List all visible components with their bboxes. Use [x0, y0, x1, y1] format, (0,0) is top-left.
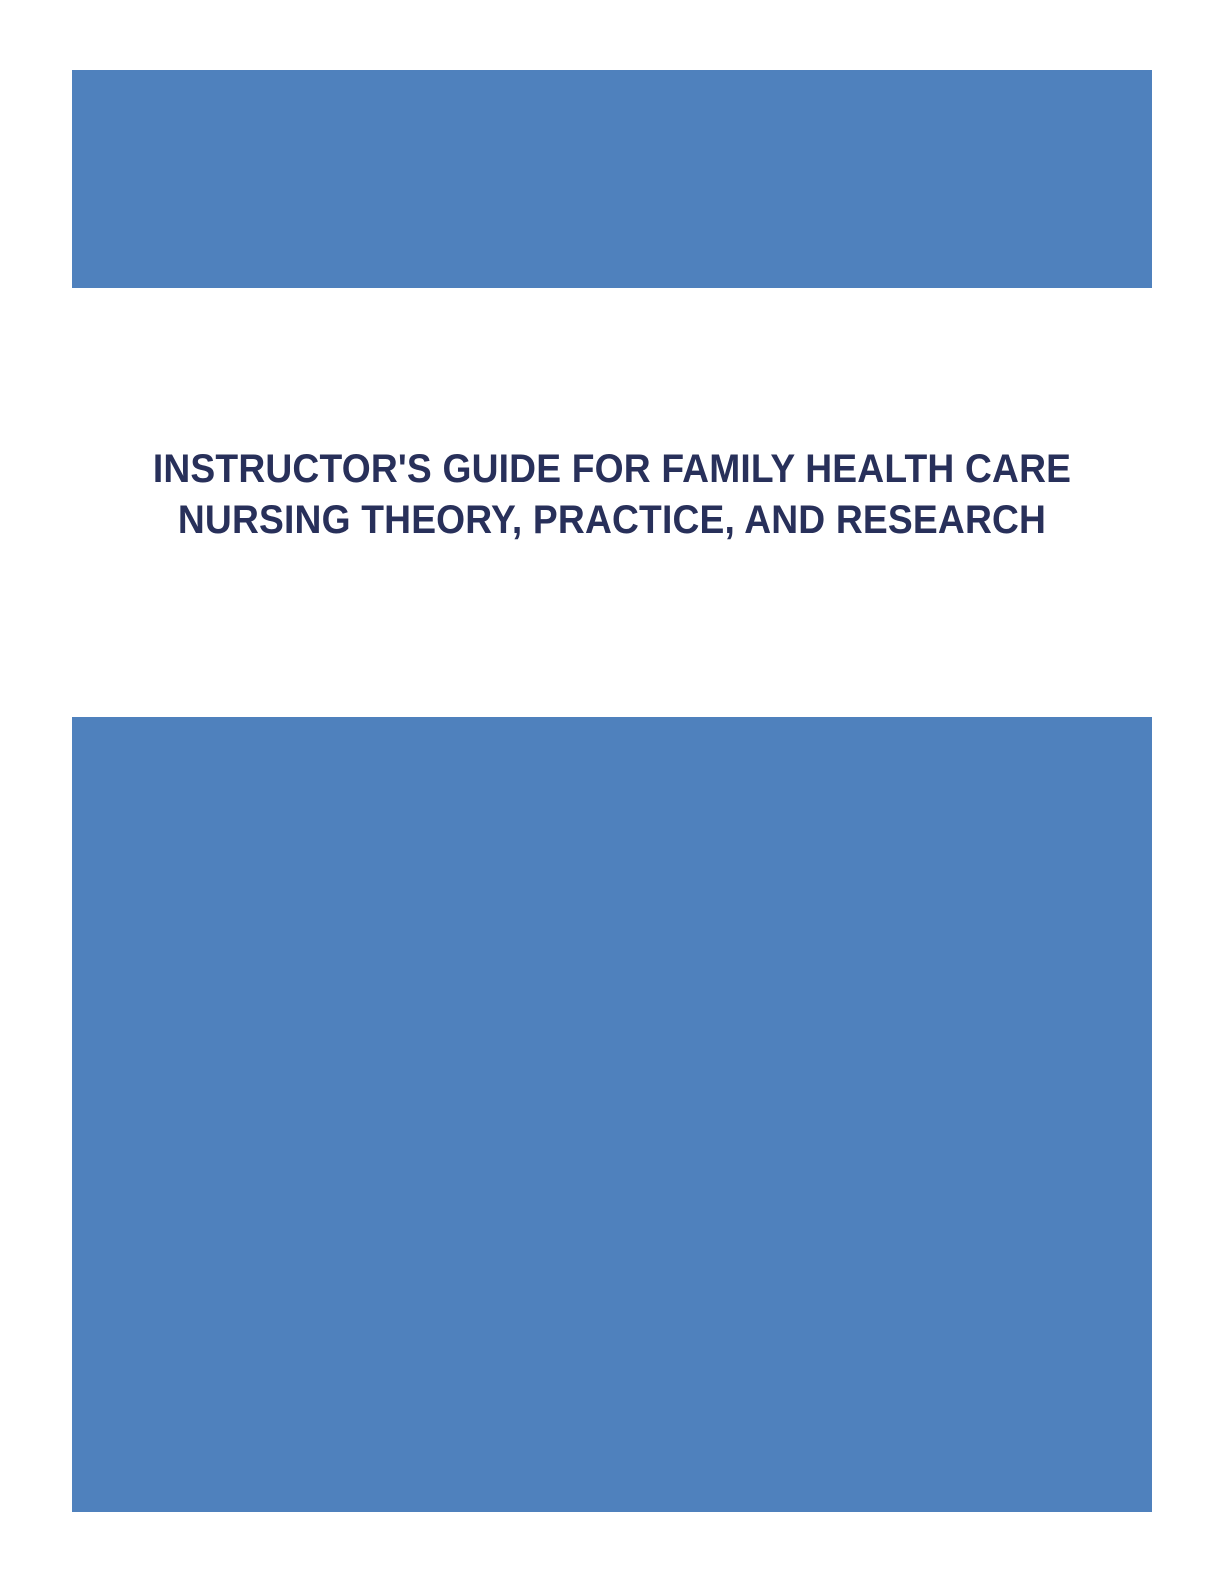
- top-accent-band: [72, 70, 1152, 288]
- cover-page: INSTRUCTOR'S GUIDE FOR FAMILY HEALTH CAR…: [0, 0, 1224, 1584]
- bottom-accent-block: [72, 717, 1152, 1512]
- page-title: INSTRUCTOR'S GUIDE FOR FAMILY HEALTH CAR…: [110, 444, 1114, 546]
- title-block: INSTRUCTOR'S GUIDE FOR FAMILY HEALTH CAR…: [72, 444, 1152, 546]
